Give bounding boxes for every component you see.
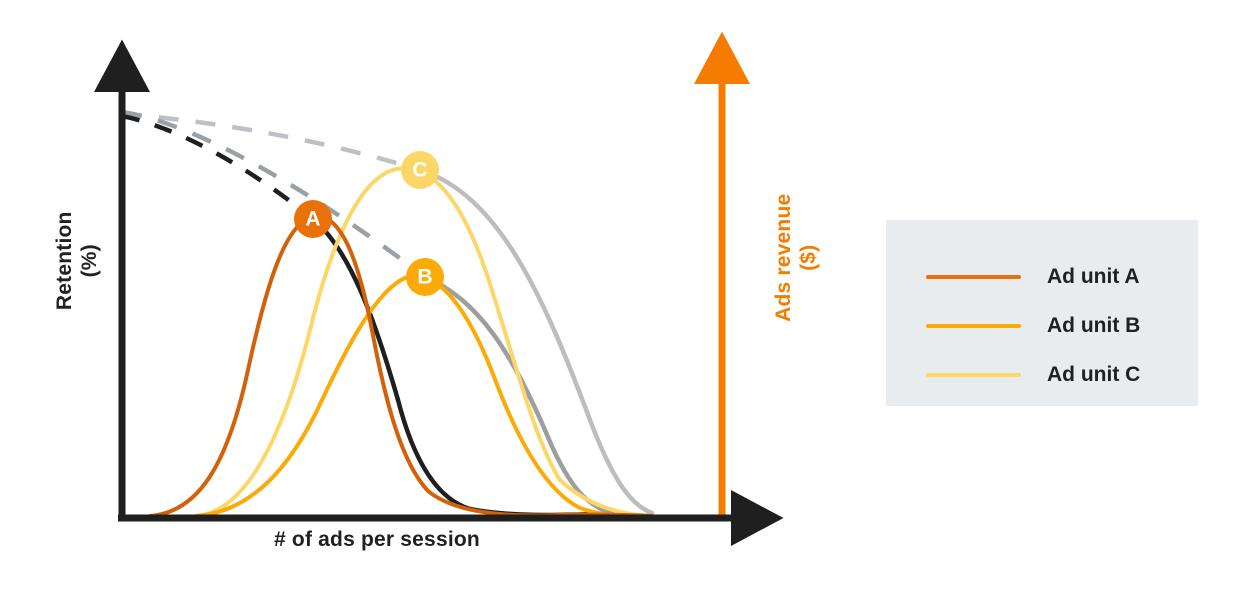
y-axis-right-title-line2: ($): [797, 158, 822, 358]
legend-swatch-ad-unit-a: [926, 275, 1021, 279]
legend-item-ad-unit-c[interactable]: Ad unit C: [926, 350, 1198, 399]
revenue-curve-a: [150, 216, 652, 516]
y-axis-right-title-line1: Ads revenue: [772, 194, 795, 322]
legend-label-ad-unit-c: Ad unit C: [1047, 363, 1140, 387]
chart-container: C A B Retention(%) Ads revenue($) # of a…: [0, 0, 1257, 597]
legend-items: Ad unit A Ad unit B Ad unit C: [926, 252, 1198, 399]
marker-label-b: B: [417, 266, 432, 289]
y-axis-left-title: Retention(%): [53, 161, 103, 361]
marker-label-c: C: [412, 159, 427, 182]
retention-curve-b-solid: [425, 277, 612, 513]
x-axis-title: # of ads per session: [274, 528, 480, 553]
legend-swatch-ad-unit-c: [926, 373, 1021, 377]
marker-badges: C A B: [294, 151, 444, 296]
legend-item-ad-unit-b[interactable]: Ad unit B: [926, 301, 1198, 350]
legend-item-ad-unit-a[interactable]: Ad unit A: [926, 252, 1198, 301]
marker-badge-a[interactable]: A: [294, 200, 332, 238]
marker-badge-b[interactable]: B: [406, 258, 444, 296]
marker-label-a: A: [305, 208, 320, 231]
legend-panel: Ad unit A Ad unit B Ad unit C: [886, 220, 1198, 406]
marker-badge-c[interactable]: C: [401, 151, 439, 189]
retention-curve-a-dashed: [122, 116, 313, 219]
revenue-curves: [150, 168, 652, 516]
retention-curve-b-dashed: [122, 112, 425, 277]
y-axis-left-title-line2: (%): [78, 161, 103, 361]
legend-label-ad-unit-b: Ad unit B: [1047, 314, 1140, 338]
legend-label-ad-unit-a: Ad unit A: [1047, 265, 1140, 289]
legend-swatch-ad-unit-b: [926, 324, 1021, 328]
y-axis-right-title: Ads revenue($): [772, 158, 822, 358]
y-axis-left-title-line1: Retention: [53, 211, 76, 310]
